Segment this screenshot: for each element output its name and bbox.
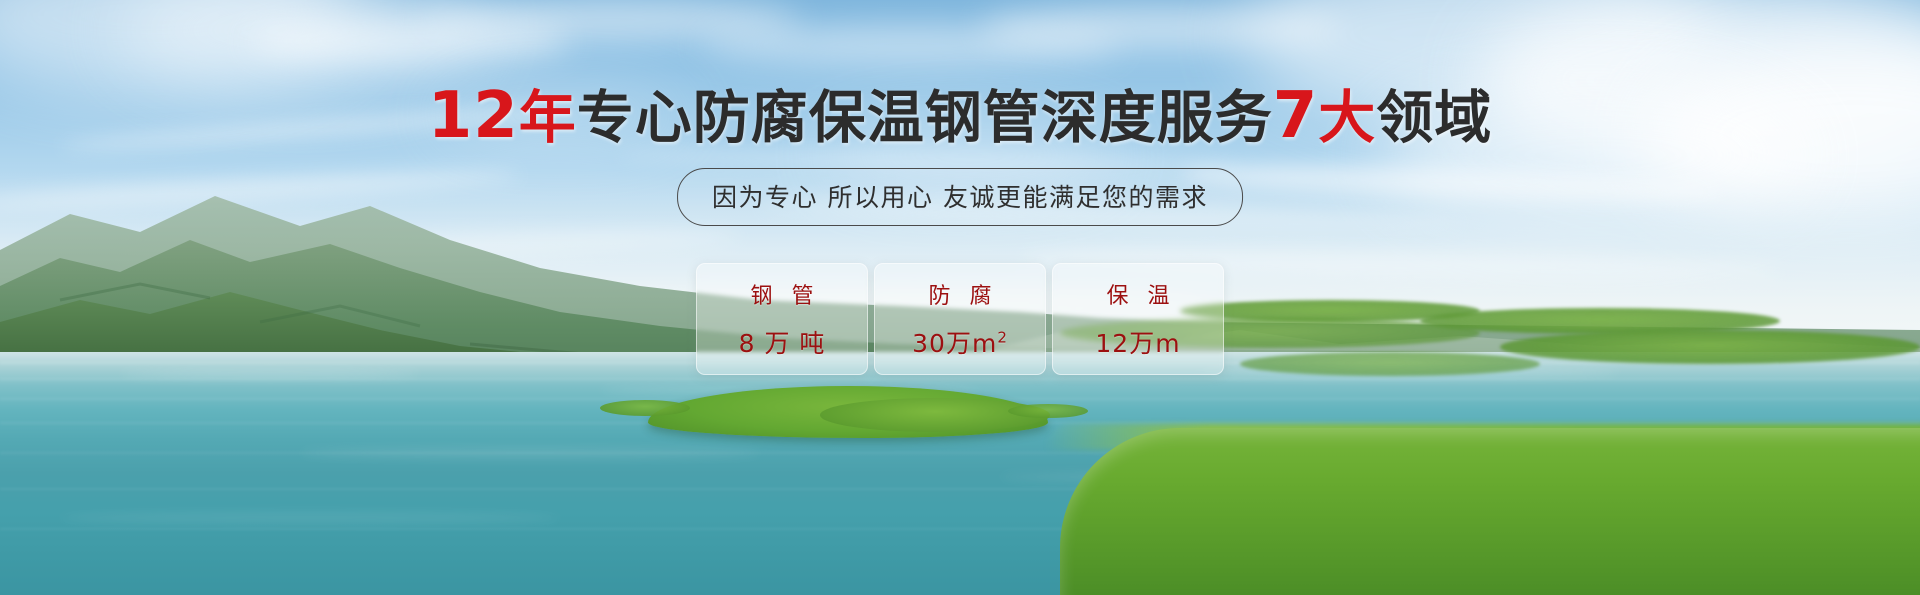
stat-card-label: 防 腐 [923,278,998,310]
stat-card-label: 钢 管 [745,278,820,310]
headline-fields-number: 7 [1273,79,1319,153]
stat-value-text: 12万m [1095,329,1180,358]
headline-fields-unit: 大 [1318,85,1376,151]
stat-card-value: 8 万 吨 [739,324,826,360]
banner-headline: 12年专心防腐保温钢管深度服务7大领域 [0,84,1920,148]
hero-banner: 12年专心防腐保温钢管深度服务7大领域 因为专心 所以用心 友诚更能满足您的需求… [0,0,1920,595]
stat-card-anticorrosion[interactable]: 防 腐 30万m2 [874,263,1046,375]
stat-card-insulation[interactable]: 保 温 12万m [1052,263,1224,375]
banner-content: 12年专心防腐保温钢管深度服务7大领域 因为专心 所以用心 友诚更能满足您的需求… [0,0,1920,595]
stat-value-superscript: 2 [997,329,1008,347]
headline-years-unit: 年 [519,85,577,151]
headline-main-phrase: 专心防腐保温钢管 [577,85,1041,151]
headline-service-phrase: 深度服务 [1041,85,1273,151]
banner-subtitle-pill: 因为专心 所以用心 友诚更能满足您的需求 [677,168,1243,226]
stat-card-steel-pipe[interactable]: 钢 管 8 万 吨 [696,263,868,375]
stat-value-text: 8 万 吨 [739,329,826,358]
stat-card-value: 30万m2 [912,324,1008,360]
stat-card-value: 12万m [1095,324,1180,360]
stat-card-group: 钢 管 8 万 吨 防 腐 30万m2 保 温 12万m [696,263,1224,375]
stat-card-label: 保 温 [1101,278,1176,310]
stat-value-text: 30万m [912,329,997,358]
headline-fields-word: 领域 [1376,85,1492,151]
headline-years-number: 12 [428,79,519,153]
